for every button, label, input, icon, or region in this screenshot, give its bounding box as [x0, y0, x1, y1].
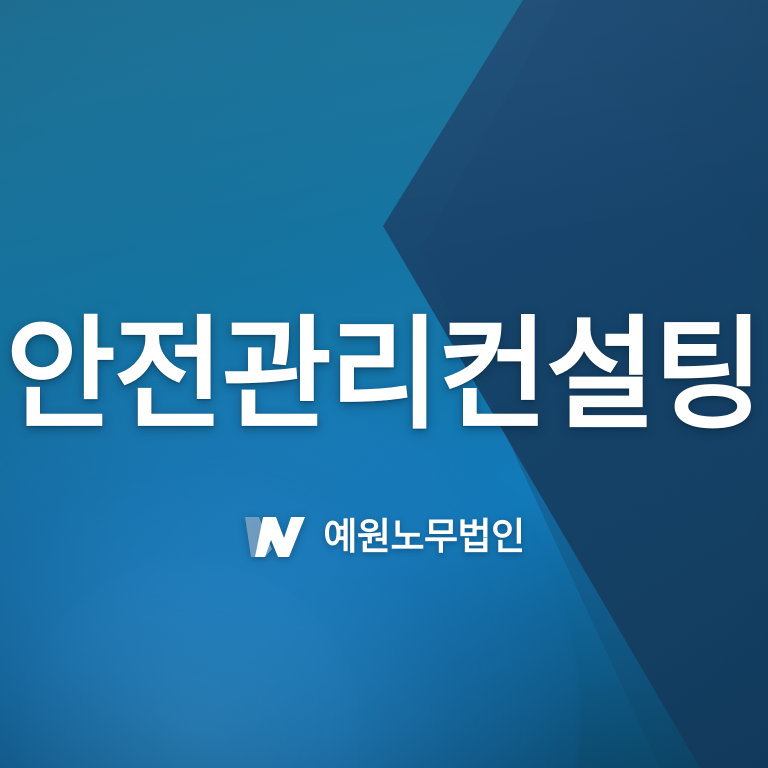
brand-lockup: 예원노무법인 [0, 508, 768, 564]
promo-banner: 안전관리컨설팅 예원노무법인 [0, 0, 768, 768]
brand-name-text: 예원노무법인 [323, 518, 524, 555]
yewon-w-mark-icon [243, 513, 309, 559]
mark-w-glyph [255, 517, 305, 557]
headline-text: 안전관리컨설팅 [6, 314, 762, 436]
headline-block: 안전관리컨설팅 [0, 300, 768, 450]
